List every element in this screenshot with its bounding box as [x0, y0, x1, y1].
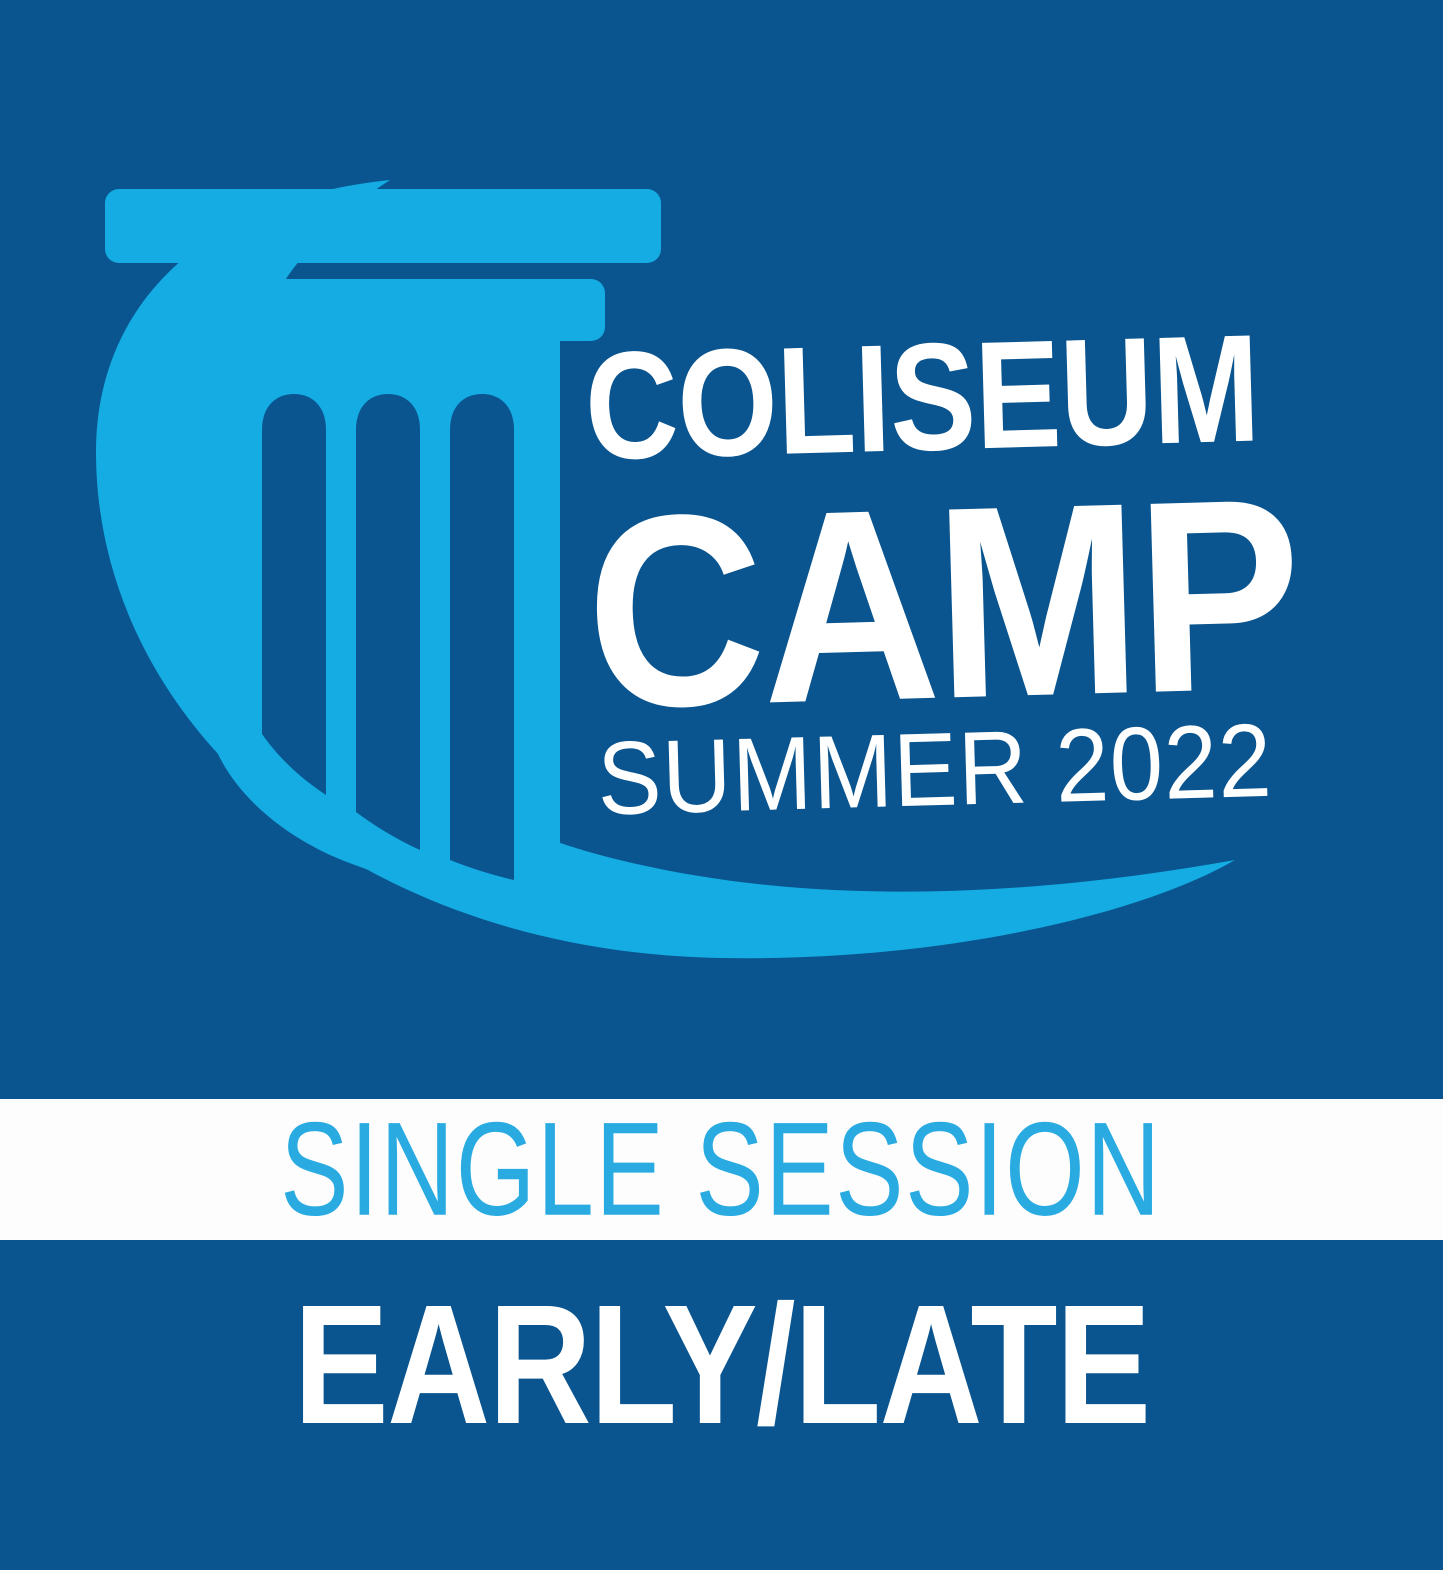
tier-label: EARLY/LATE	[115, 1280, 1327, 1450]
column-abacus-bar	[105, 189, 661, 263]
column-echinus-bar	[163, 279, 605, 341]
camp-pass-card: COLISEUM CAMP SUMMER 2022 SINGLE SESSION…	[0, 0, 1443, 1570]
tier-strip: EARLY/LATE	[0, 1240, 1443, 1570]
session-label: SINGLE SESSION	[281, 1103, 1163, 1236]
wordmark: COLISEUM CAMP SUMMER 2022	[575, 309, 1350, 870]
logo-block: COLISEUM CAMP SUMMER 2022	[0, 0, 1443, 1099]
wordmark-line-summer: SUMMER 2022	[596, 709, 1273, 832]
session-band: SINGLE SESSION	[0, 1099, 1443, 1240]
